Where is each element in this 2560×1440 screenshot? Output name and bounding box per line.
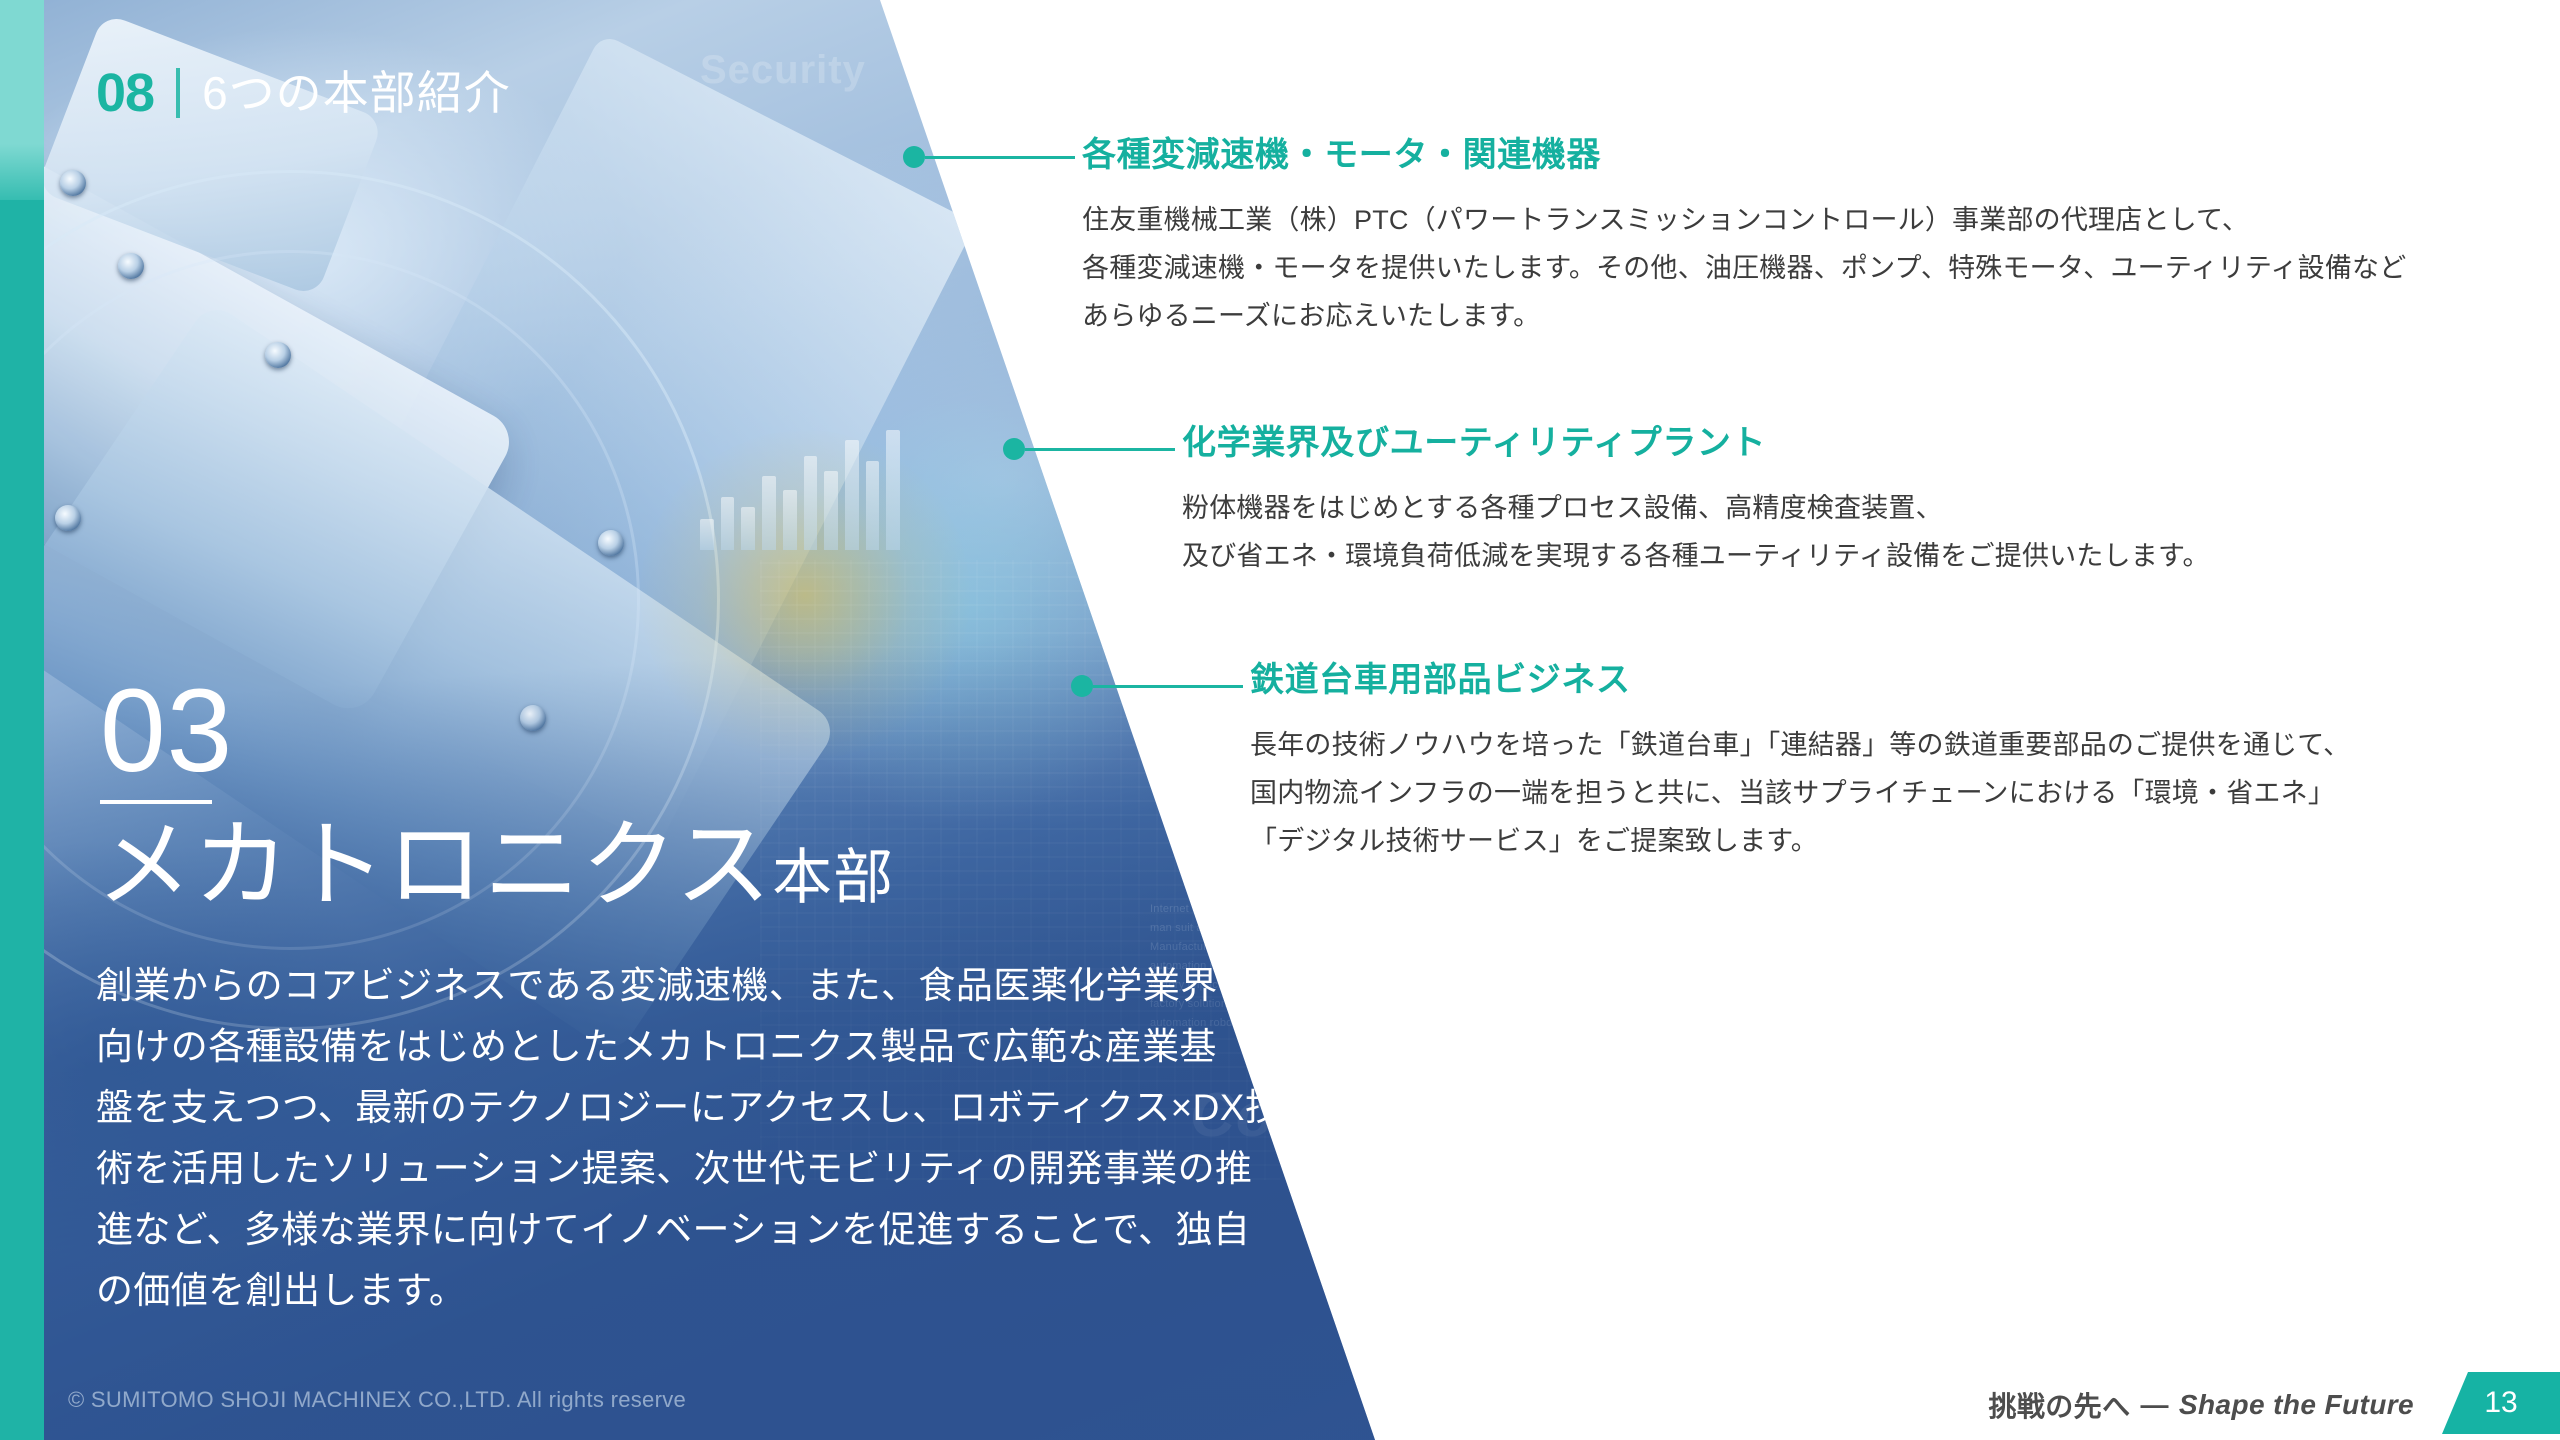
connector-line-3	[1093, 685, 1243, 688]
division-title-suffix: 本部	[772, 844, 894, 911]
lead-line: の価値を創出します。	[96, 1260, 1116, 1321]
footer-tagline: 挑戦の先へ — Shape the Future	[1988, 1385, 2414, 1425]
content-block-3: 鉄道台車用部品ビジネス 長年の技術ノウハウを培った「鉄道台車」「連結器」等の鉄道…	[1250, 660, 2350, 865]
connector-dot-3	[1071, 675, 1093, 697]
body-line: 及び省エネ・環境負荷低減を実現する各種ユーティリティ設備をご提供いたします。	[1182, 532, 2210, 580]
lead-line: 盤を支えつつ、最新のテクノロジーにアクセスし、ロボティクス×DX技	[96, 1077, 1116, 1138]
content-block-1-heading: 各種変減速機・モータ・関連機器	[1082, 135, 2406, 176]
slide-root: Security % Connect... Internet of things…	[0, 0, 2560, 1440]
copyright-text: © SUMITOMO SHOJI MACHINEX CO.,LTD. All r…	[68, 1387, 686, 1413]
kicker-divider	[176, 68, 180, 118]
lead-line: 向けの各種設備をはじめとしたメカトロニクス製品で広範な産業基	[96, 1016, 1116, 1077]
lead-line: 術を活用したソリューション提案、次世代モビリティの開発事業の推	[96, 1138, 1116, 1199]
section-title: 6つの本部紹介	[202, 70, 511, 116]
body-line: 各種変減速機・モータを提供いたします。その他、油圧機器、ポンプ、特殊モータ、ユー…	[1082, 244, 2406, 292]
body-line: 長年の技術ノウハウを培った「鉄道台車」「連結器」等の鉄道重要部品のご提供を通じて…	[1250, 721, 2350, 769]
left-accent-stripe-top	[0, 0, 44, 200]
section-number: 08	[96, 66, 154, 120]
division-number: 03	[100, 672, 233, 790]
content-block-1-body: 住友重機械工業（株）PTC（パワートランスミッションコントロール）事業部の代理店…	[1082, 196, 2406, 340]
connector-dot-1	[903, 146, 925, 168]
section-kicker: 08 6つの本部紹介	[96, 66, 511, 120]
content-block-2-heading: 化学業界及びユーティリティプラント	[1182, 423, 2210, 464]
division-title: メカトロニクス本部	[96, 818, 894, 914]
connector-line-1	[925, 156, 1075, 159]
body-line: 国内物流インフラの一端を担うと共に、当該サプライチェーンにおける「環境・省エネ」	[1250, 769, 2350, 817]
lead-line: 創業からのコアビジネスである変減速機、また、食品医薬化学業界	[96, 955, 1116, 1016]
content-block-3-heading: 鉄道台車用部品ビジネス	[1250, 660, 2350, 701]
tagline-en: Shape the Future	[2179, 1389, 2414, 1421]
body-line: 住友重機械工業（株）PTC（パワートランスミッションコントロール）事業部の代理店…	[1082, 196, 2406, 244]
body-line: 粉体機器をはじめとする各種プロセス設備、高精度検査装置、	[1182, 484, 2210, 532]
content-block-2-body: 粉体機器をはじめとする各種プロセス設備、高精度検査装置、 及び省エネ・環境負荷低…	[1182, 484, 2210, 580]
connector-dot-2	[1003, 438, 1025, 460]
lead-line: 進など、多様な業界に向けてイノベーションを促進することで、独自	[96, 1199, 1116, 1260]
page-number-badge: 13	[2442, 1372, 2560, 1434]
content-block-3-body: 長年の技術ノウハウを培った「鉄道台車」「連結器」等の鉄道重要部品のご提供を通じて…	[1250, 721, 2350, 865]
division-lead-paragraph: 創業からのコアビジネスである変減速機、また、食品医薬化学業界 向けの各種設備をは…	[96, 955, 1116, 1321]
content-block-2: 化学業界及びユーティリティプラント 粉体機器をはじめとする各種プロセス設備、高精…	[1182, 423, 2210, 580]
connector-line-2	[1025, 448, 1175, 451]
division-title-main: メカトロニクス	[96, 812, 772, 919]
left-accent-stripe	[0, 0, 44, 1440]
tagline-jp: 挑戦の先へ	[1988, 1385, 2130, 1425]
body-line: 「デジタル技術サービス」をご提案致します。	[1250, 817, 2350, 865]
body-line: あらゆるニーズにお応えいたします。	[1082, 292, 2406, 340]
content-block-1: 各種変減速機・モータ・関連機器 住友重機械工業（株）PTC（パワートランスミッシ…	[1082, 135, 2406, 340]
division-underline	[100, 800, 212, 804]
tagline-dash: —	[2141, 1389, 2169, 1421]
